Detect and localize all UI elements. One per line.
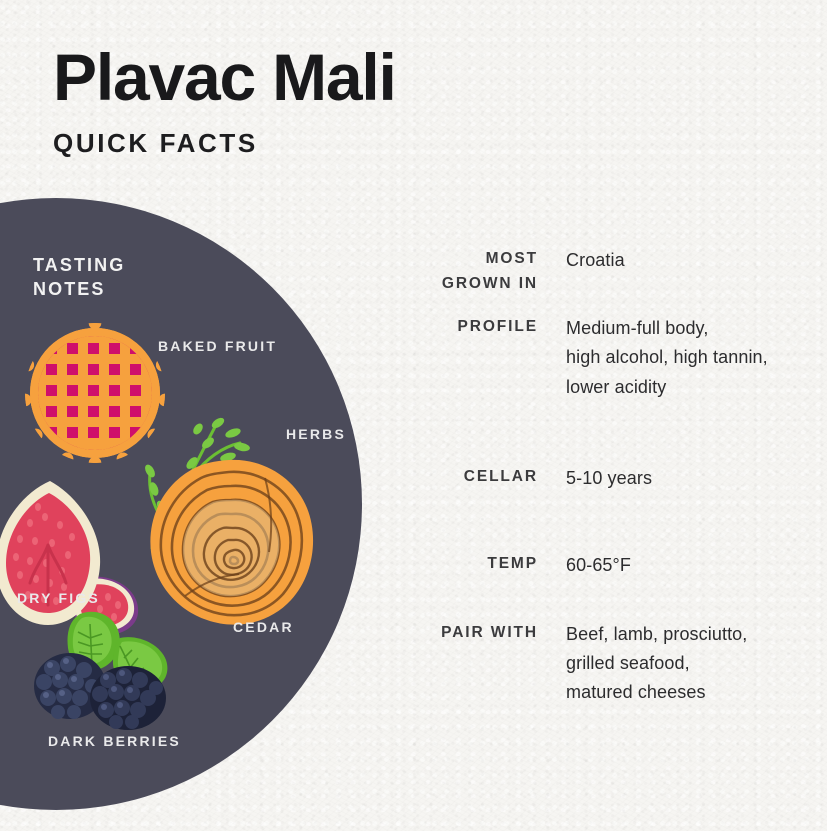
fact-value-most-grown-in: Croatia xyxy=(566,246,625,275)
fact-value-cellar: 5-10 years xyxy=(566,464,652,493)
tasting-notes-heading-line-1: TASTING xyxy=(33,253,125,277)
fact-row-profile: PROFILE Medium-full body, high alcohol, … xyxy=(390,314,810,401)
wood-slice-icon xyxy=(145,456,320,631)
blackberry-icon xyxy=(20,608,190,738)
fact-label-pair-with: PAIR WITH xyxy=(390,620,538,645)
note-label-dark-berries: DARK BERRIES xyxy=(48,733,181,749)
fact-row-most-grown-in: MOST GROWN IN Croatia xyxy=(390,246,810,296)
quick-facts-list: MOST GROWN IN Croatia PROFILE Medium-ful… xyxy=(390,246,810,707)
fact-row-temp: TEMP 60-65°F xyxy=(390,551,810,580)
note-label-dry-figs: DRY FIGS xyxy=(17,590,100,606)
note-label-herbs: HERBS xyxy=(286,426,346,442)
fact-value-temp: 60-65°F xyxy=(566,551,631,580)
tasting-notes-heading: TASTING NOTES xyxy=(33,253,125,302)
fact-label-temp: TEMP xyxy=(390,551,538,576)
note-label-cedar: CEDAR xyxy=(233,619,294,635)
page-subtitle: QUICK FACTS xyxy=(53,128,396,159)
fact-row-cellar: CELLAR 5-10 years xyxy=(390,464,810,493)
tasting-notes-panel: TASTING NOTES xyxy=(0,198,362,810)
fact-value-profile: Medium-full body, high alcohol, high tan… xyxy=(566,314,768,401)
note-label-baked-fruit: BAKED FRUIT xyxy=(158,338,277,354)
fact-label-profile: PROFILE xyxy=(390,314,538,339)
fact-value-pair-with: Beef, lamb, prosciutto, grilled seafood,… xyxy=(566,620,747,707)
fact-label-most-grown-in: MOST GROWN IN xyxy=(390,246,538,296)
page-title: Plavac Mali xyxy=(53,44,396,110)
fact-row-pair-with: PAIR WITH Beef, lamb, prosciutto, grille… xyxy=(390,620,810,707)
header: Plavac Mali QUICK FACTS xyxy=(53,44,396,159)
tasting-notes-heading-line-2: NOTES xyxy=(33,277,125,301)
fact-label-cellar: CELLAR xyxy=(390,464,538,489)
